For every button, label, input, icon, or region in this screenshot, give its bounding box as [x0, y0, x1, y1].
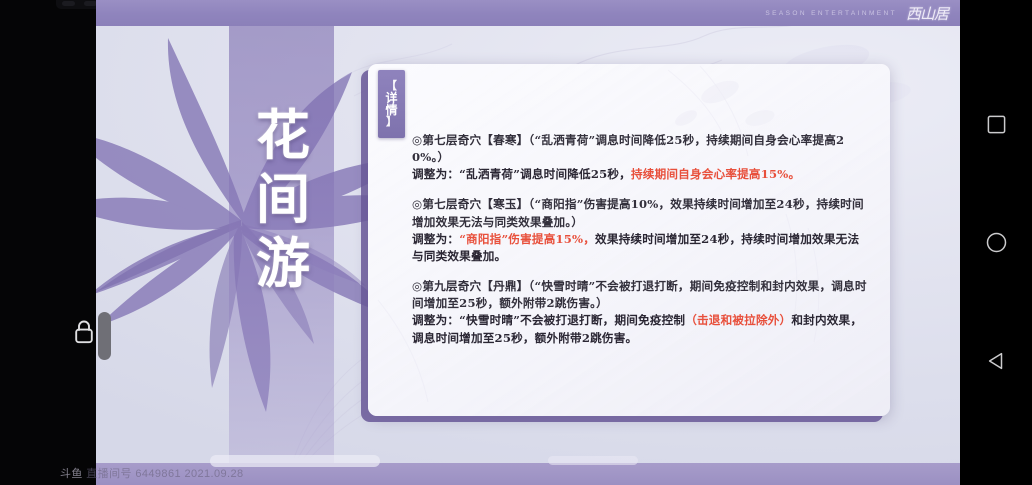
patch-note-item: ◎第九层奇穴【丹鼎】（“快雪时晴”不会被打退打断，期间免疫控制和封内效果，调息时… — [412, 278, 870, 347]
tab-bracket-close: 】 — [386, 116, 397, 127]
watermark-date: 2021.09.28 — [184, 468, 243, 480]
adjust-prefix: 调整为： — [412, 232, 459, 246]
game-viewport: SEASON ENTERTAINMENT 西山居 — [96, 0, 962, 485]
android-nav-bar — [960, 0, 1032, 485]
watermark-platform: 斗鱼 — [60, 468, 83, 480]
title-char-3: 游 — [256, 236, 310, 290]
patch-note-original: ◎第九层奇穴【丹鼎】（“快雪时晴”不会被打退打断，期间免疫控制和封内效果，调息时… — [412, 278, 870, 312]
adjust-prefix: 调整为：“快雪时晴”不会被打退打断，期间免疫控制 — [412, 313, 685, 327]
title-char-1: 花 — [256, 108, 310, 162]
patch-note-item: ◎第七层奇穴【春寒】（“乱洒青荷”调息时间降低25秒，持续期间自身会心率提高20… — [412, 132, 870, 183]
detail-body: ◎第七层奇穴【春寒】（“乱洒青荷”调息时间降低25秒，持续期间自身会心率提高20… — [412, 132, 870, 402]
adjust-highlight: “商阳指”伤害提高15%， — [459, 232, 595, 246]
tab-bracket-open: 【 — [386, 80, 397, 91]
front-camera-icon — [62, 1, 75, 6]
patch-note-original: ◎第七层奇穴【春寒】（“乱洒青荷”调息时间降低25秒，持续期间自身会心率提高20… — [412, 132, 870, 166]
adjust-prefix: 调整为：“乱洒青荷”调息时间降低25秒， — [412, 167, 631, 181]
lock-icon — [73, 319, 95, 345]
tab-detail[interactable]: 【 详 情 】 — [378, 70, 405, 138]
edge-drag-handle[interactable] — [98, 312, 111, 360]
adjust-highlight: （击退和被拉除外） — [685, 313, 791, 327]
patch-note-original: ◎第七层奇穴【寒玉】（“商阳指”伤害提高10%，效果持续时间增加至24秒，持续时… — [412, 196, 870, 230]
patch-note-adjusted: 调整为：“快雪时晴”不会被打退打断，期间免疫控制（击退和被拉除外）和封内效果，调… — [412, 312, 870, 346]
patch-note-item: ◎第七层奇穴【寒玉】（“商阳指”伤害提高10%，效果持续时间增加至24秒，持续时… — [412, 196, 870, 265]
square-icon — [987, 115, 1006, 134]
detail-card: 【 详 情 】 ◎第七层奇穴【春寒】（“乱洒青荷”调息时间降低25秒，持续期间自… — [368, 64, 890, 416]
title-char-2: 间 — [256, 172, 310, 226]
brand-en-text: SEASON ENTERTAINMENT — [765, 10, 897, 17]
adjust-highlight: 持续期间自身会心率提高15%。 — [631, 167, 800, 181]
stream-watermark: 斗鱼 直播间号 6449861 2021.09.28 — [60, 465, 244, 481]
phone-shell: SEASON ENTERTAINMENT 西山居 — [0, 0, 1032, 485]
triangle-icon — [986, 351, 1006, 371]
stream-overlay-bar-right — [548, 456, 638, 465]
circle-icon — [986, 232, 1007, 253]
nav-home-button[interactable] — [960, 184, 1032, 302]
patch-note-adjusted: 调整为：“乱洒青荷”调息时间降低25秒，持续期间自身会心率提高15%。 — [412, 166, 870, 183]
watermark-room-label: 直播间号 — [86, 468, 132, 480]
brand-logo: 西山居 — [906, 3, 948, 24]
nav-recents-button[interactable] — [960, 66, 1032, 184]
nav-back-button[interactable] — [960, 302, 1032, 420]
watermark-room-number: 6449861 — [135, 468, 181, 480]
game-title-vertical: 花 间 游 — [238, 108, 328, 290]
brand-watermark: SEASON ENTERTAINMENT 西山居 — [765, 0, 948, 26]
patch-note-adjusted: 调整为：“商阳指”伤害提高15%，效果持续时间增加至24秒，持续时间增加效果无法… — [412, 231, 870, 265]
